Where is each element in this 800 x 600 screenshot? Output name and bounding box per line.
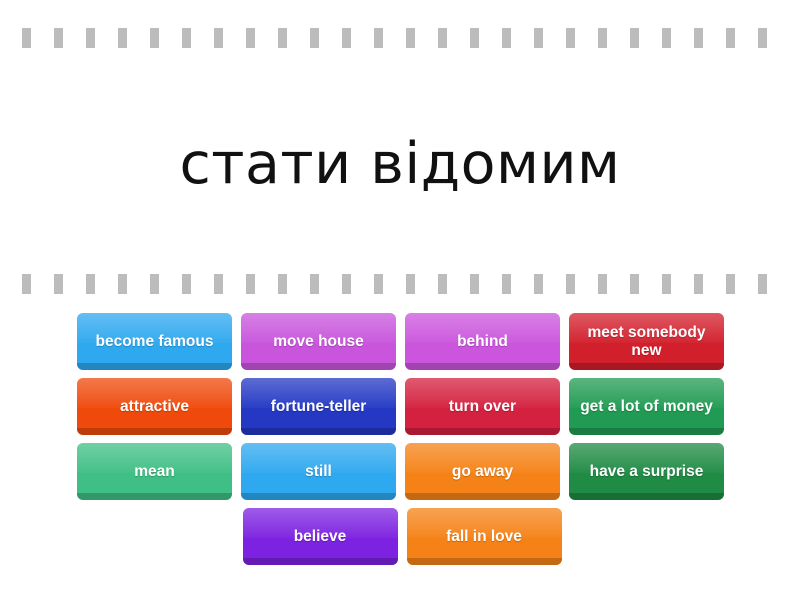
tile-turn-over[interactable]: turn over	[405, 378, 560, 435]
answer-tile-label: go away	[452, 463, 513, 480]
tile-get-a-lot-of-money[interactable]: get a lot of money	[569, 378, 724, 435]
answer-tile-label: meet somebody new	[574, 324, 719, 359]
tile-become-famous[interactable]: become famous	[77, 313, 232, 370]
answer-tile-row: meanstillgo awayhave a surprise	[77, 443, 727, 500]
page-title: стати відомим	[179, 135, 620, 195]
answer-tile-grid: become famousmove housebehindmeet somebo…	[77, 313, 727, 573]
tile-fortune-teller[interactable]: fortune-teller	[241, 378, 396, 435]
tile-fall-in-love[interactable]: fall in love	[407, 508, 562, 565]
tile-still[interactable]: still	[241, 443, 396, 500]
answer-tile-label: believe	[294, 528, 347, 545]
answer-tile-label: still	[305, 463, 332, 480]
prompt-area: стати відомим	[0, 62, 800, 267]
answer-tile-label: behind	[457, 333, 508, 350]
answer-tile-label: fortune-teller	[271, 398, 367, 415]
answer-tile-label: turn over	[449, 398, 516, 415]
tile-believe[interactable]: believe	[243, 508, 398, 565]
top-dashed-rule	[22, 28, 784, 48]
tile-meet-somebody-new[interactable]: meet somebody new	[569, 313, 724, 370]
answer-tile-label: get a lot of money	[580, 398, 713, 415]
tile-move-house[interactable]: move house	[241, 313, 396, 370]
answer-tile-label: have a surprise	[590, 463, 704, 480]
answer-tile-label: mean	[134, 463, 175, 480]
tile-have-a-surprise[interactable]: have a surprise	[569, 443, 724, 500]
middle-dashed-rule	[22, 274, 784, 294]
answer-tile-label: move house	[273, 333, 363, 350]
tile-attractive[interactable]: attractive	[77, 378, 232, 435]
answer-tile-row: believefall in love	[77, 508, 727, 565]
tile-mean[interactable]: mean	[77, 443, 232, 500]
answer-tile-label: become famous	[95, 333, 213, 350]
answer-tile-label: attractive	[120, 398, 189, 415]
answer-tile-label: fall in love	[446, 528, 522, 545]
answer-tile-row: become famousmove housebehindmeet somebo…	[77, 313, 727, 370]
answer-tile-row: attractivefortune-tellerturn overget a l…	[77, 378, 727, 435]
tile-behind[interactable]: behind	[405, 313, 560, 370]
tile-go-away[interactable]: go away	[405, 443, 560, 500]
